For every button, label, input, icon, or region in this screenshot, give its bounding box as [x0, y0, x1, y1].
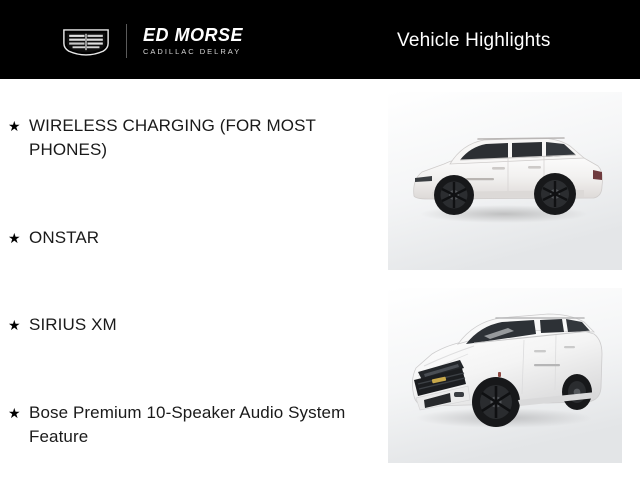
- dealer-logo-lockup[interactable]: ED MORSE CADILLAC DELRAY: [60, 22, 243, 60]
- page-title: Vehicle Highlights: [397, 30, 551, 52]
- list-item: ★ ONSTAR: [8, 226, 368, 250]
- dealer-subtitle: CADILLAC DELRAY: [143, 48, 243, 56]
- highlight-label: Bose Premium 10-Speaker Audio System Fea…: [29, 401, 368, 449]
- highlight-label: ONSTAR: [29, 226, 368, 250]
- list-item: ★ Bose Premium 10-Speaker Audio System F…: [8, 401, 368, 449]
- list-item: ★ SIRIUS XM: [8, 313, 368, 337]
- vehicle-highlights-list: ★ WIRELESS CHARGING (FOR MOST PHONES) ★ …: [0, 79, 380, 480]
- vehicle-front-three-quarter-photo[interactable]: [388, 288, 622, 463]
- highlight-label: SIRIUS XM: [29, 313, 368, 337]
- star-bullet-icon: ★: [8, 114, 29, 138]
- logo-divider: [126, 24, 127, 58]
- star-bullet-icon: ★: [8, 401, 29, 425]
- dealer-name-block: ED MORSE CADILLAC DELRAY: [143, 26, 243, 56]
- vehicle-side-profile-photo[interactable]: [388, 92, 622, 270]
- vehicle-highlights-slide: ED MORSE CADILLAC DELRAY Vehicle Highlig…: [0, 0, 640, 480]
- star-bullet-icon: ★: [8, 226, 29, 250]
- list-item: ★ WIRELESS CHARGING (FOR MOST PHONES): [8, 114, 368, 162]
- dealer-name: ED MORSE: [143, 26, 243, 44]
- star-bullet-icon: ★: [8, 313, 29, 337]
- highlight-label: WIRELESS CHARGING (FOR MOST PHONES): [29, 114, 368, 162]
- cadillac-crest-icon: [60, 26, 112, 56]
- header-bar: ED MORSE CADILLAC DELRAY Vehicle Highlig…: [0, 0, 640, 79]
